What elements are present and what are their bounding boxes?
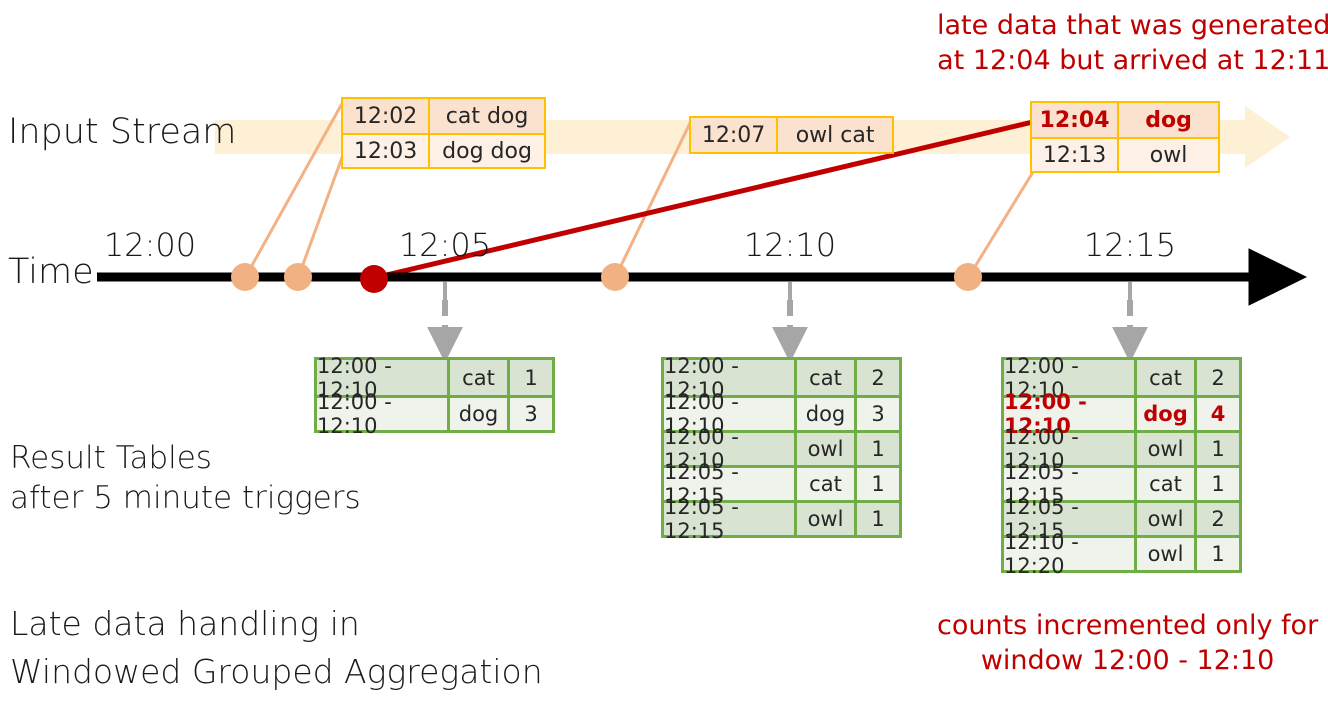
diagram-canvas: Input Stream Time Result Tables after 5 …: [0, 0, 1328, 706]
result-table-row: 12:10 - 12:20owl1: [1004, 535, 1239, 570]
input-event-words: owl: [1119, 139, 1218, 171]
result-count-cell: 4: [1197, 398, 1239, 430]
late-data-note-line2: at 12:04 but arrived at 12:11: [937, 43, 1328, 78]
result-window-cell: 12:00 - 12:10: [317, 398, 450, 430]
timeline-tick-1205: 12:05: [399, 226, 491, 264]
late-data-note: late data that was generated at 12:04 bu…: [937, 8, 1328, 78]
result-table-row: 12:05 - 12:15owl1: [664, 500, 899, 535]
result-count-cell: 1: [510, 360, 552, 395]
result-table: 12:00 - 12:10cat212:00 - 12:10dog412:00 …: [1001, 357, 1242, 573]
timeline-tick-1215: 12:15: [1084, 226, 1176, 264]
result-key-cell: dog: [1137, 398, 1197, 430]
result-count-cell: 2: [1197, 503, 1239, 535]
input-event-row: 12:02cat dog: [343, 99, 544, 133]
result-tables-label-line2: after 5 minute triggers: [10, 478, 361, 518]
input-event-row: 12:07owl cat: [691, 118, 892, 152]
result-window-cell: 12:10 - 12:20: [1004, 538, 1137, 570]
timeline-event-dots: [231, 263, 982, 293]
input-event-box: 12:02cat dog12:03dog dog: [341, 97, 546, 169]
input-event-time: 12:03: [343, 135, 430, 167]
trigger-arrows: [445, 300, 1130, 340]
result-window-cell: 12:05 - 12:15: [664, 503, 797, 535]
timeline-tick-1210: 12:10: [744, 226, 836, 264]
result-count-cell: 3: [857, 398, 899, 430]
result-key-cell: dog: [797, 398, 857, 430]
counts-note: counts incremented only for window 12:00…: [937, 608, 1318, 678]
result-key-cell: owl: [1137, 433, 1197, 465]
late-data-note-line1: late data that was generated: [937, 8, 1328, 43]
result-tables-label: Result Tables after 5 minute triggers: [10, 438, 361, 518]
result-key-cell: owl: [797, 433, 857, 465]
result-key-cell: cat: [1137, 360, 1197, 395]
input-event-words: cat dog: [430, 99, 544, 133]
input-event-time: 12:13: [1032, 139, 1119, 171]
time-label: Time: [8, 252, 94, 292]
result-key-cell: cat: [797, 360, 857, 395]
result-table: 12:00 - 12:10cat212:00 - 12:10dog312:00 …: [661, 357, 902, 538]
input-event-box: 12:04dog12:13owl: [1030, 101, 1220, 173]
result-table-row: 12:00 - 12:10dog3: [317, 395, 552, 430]
input-stream-label: Input Stream: [8, 112, 236, 152]
result-key-cell: cat: [450, 360, 510, 395]
result-key-cell: dog: [450, 398, 510, 430]
result-key-cell: cat: [1137, 468, 1197, 500]
diagram-caption-line1: Late data handling in: [10, 600, 543, 648]
input-event-time: 12:02: [343, 99, 430, 133]
input-event-time: 12:04: [1032, 103, 1119, 137]
input-event-row: 12:03dog dog: [343, 133, 544, 167]
input-event-words: owl cat: [778, 118, 892, 152]
counts-note-line1: counts incremented only for: [937, 608, 1318, 643]
input-event-time: 12:07: [691, 118, 778, 152]
result-key-cell: owl: [797, 503, 857, 535]
input-event-words: dog: [1119, 103, 1218, 137]
input-event-box: 12:07owl cat: [689, 116, 894, 154]
result-count-cell: 2: [857, 360, 899, 395]
result-count-cell: 3: [510, 398, 552, 430]
result-tables-label-line1: Result Tables: [10, 438, 361, 478]
result-count-cell: 1: [1197, 468, 1239, 500]
result-count-cell: 1: [857, 468, 899, 500]
result-count-cell: 1: [857, 433, 899, 465]
input-event-row: 12:04dog: [1032, 103, 1218, 137]
result-key-cell: owl: [1137, 503, 1197, 535]
diagram-caption: Late data handling in Windowed Grouped A…: [10, 600, 543, 696]
input-event-words: dog dog: [430, 135, 544, 167]
timeline-tick-1200: 12:00: [104, 226, 196, 264]
result-count-cell: 1: [1197, 538, 1239, 570]
result-key-cell: cat: [797, 468, 857, 500]
result-count-cell: 1: [1197, 433, 1239, 465]
result-count-cell: 1: [857, 503, 899, 535]
result-count-cell: 2: [1197, 360, 1239, 395]
timeline-axis: [97, 277, 1262, 303]
counts-note-line2: window 12:00 - 12:10: [937, 643, 1318, 678]
diagram-caption-line2: Windowed Grouped Aggregation: [10, 648, 543, 696]
result-table: 12:00 - 12:10cat112:00 - 12:10dog3: [314, 357, 555, 433]
result-key-cell: owl: [1137, 538, 1197, 570]
input-event-row: 12:13owl: [1032, 137, 1218, 171]
